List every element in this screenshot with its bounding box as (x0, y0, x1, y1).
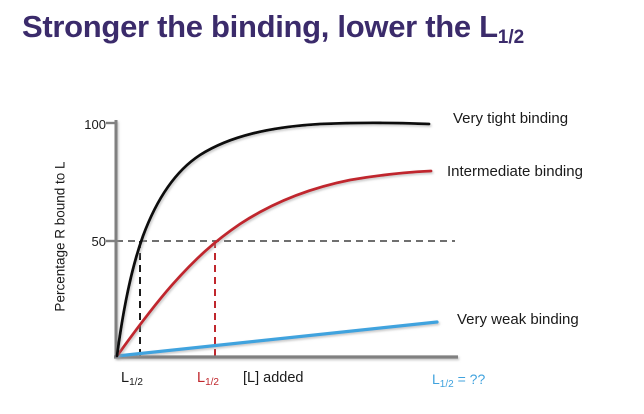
slide-canvas: Stronger the binding, lower the L1/2 (0, 0, 644, 414)
lhalf-label-very-weak-main: L (432, 371, 440, 387)
binding-curve-chart (0, 0, 644, 414)
legend-label-intermediate-binding: Intermediate binding (447, 163, 583, 180)
legend-label-very-weak-binding: Very weak binding (457, 311, 579, 328)
lhalf-label-very-tight-main: L (121, 370, 129, 386)
lhalf-label-very-weak-sub: 1/2 (440, 379, 454, 390)
y-axis-tick-label-100: 100 (60, 117, 106, 132)
curve-very-tight-binding (117, 123, 429, 356)
lhalf-label-intermediate-sub: 1/2 (205, 377, 219, 388)
lhalf-label-intermediate: L1/2 (197, 370, 219, 386)
legend-label-very-tight-binding: Very tight binding (453, 110, 568, 127)
lhalf-label-intermediate-main: L (197, 370, 205, 386)
lhalf-label-very-weak-tail: = ?? (454, 371, 486, 387)
lhalf-label-very-tight-sub: 1/2 (129, 377, 143, 388)
lhalf-label-very-weak: L1/2 = ?? (432, 371, 485, 387)
lhalf-label-very-tight: L1/2 (121, 370, 143, 386)
x-axis-label: [L] added (243, 370, 303, 386)
y-axis-label: Percentage R bound to L (53, 137, 68, 337)
curve-very-weak-binding (117, 322, 437, 356)
